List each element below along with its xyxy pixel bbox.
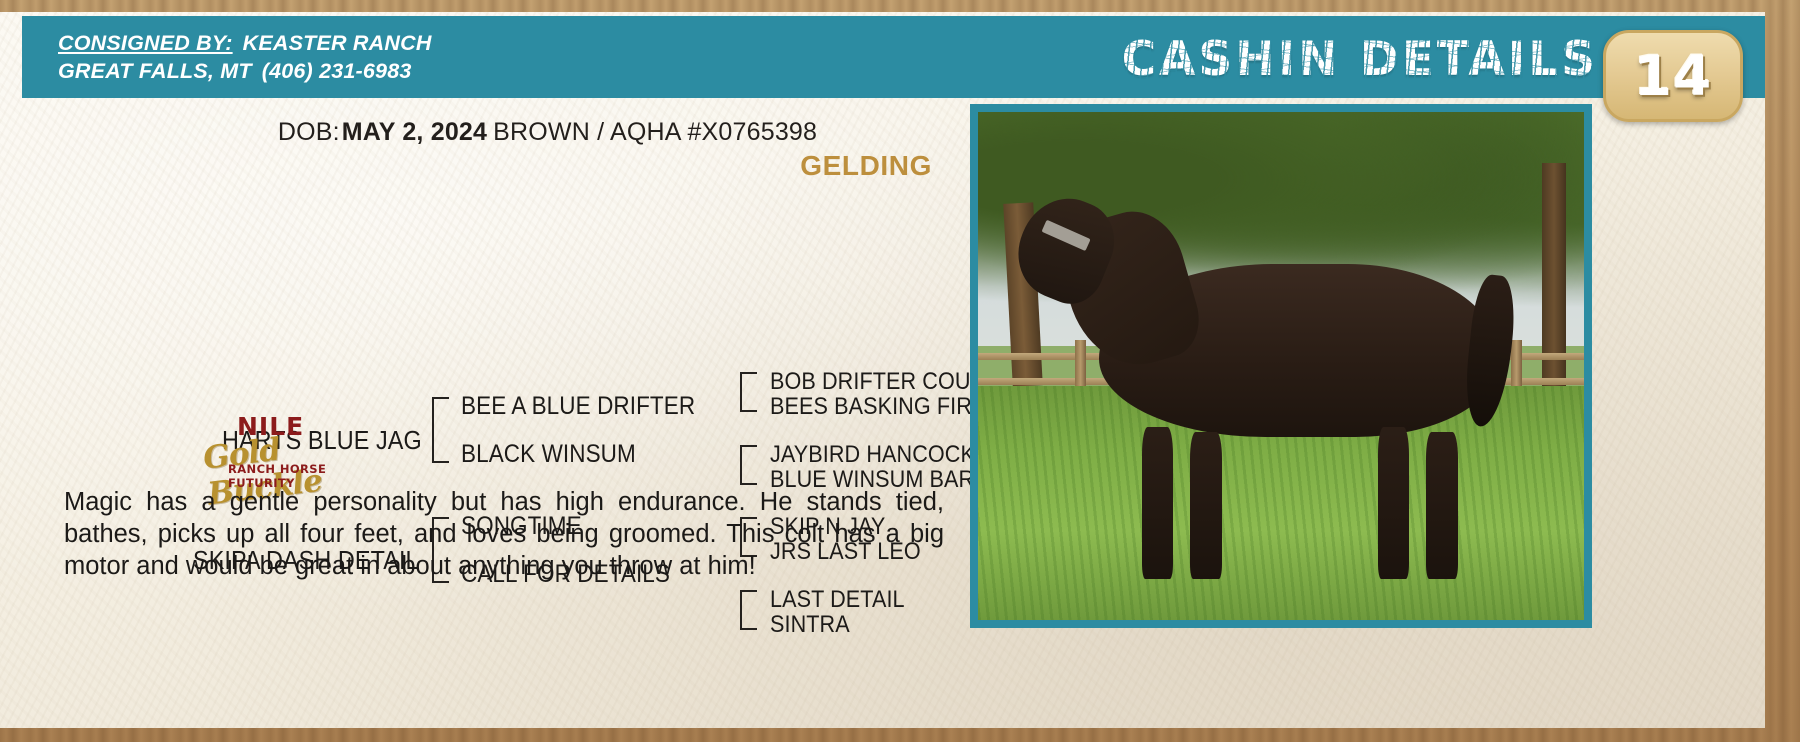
bracket-dam-dam xyxy=(740,590,757,630)
pedigree-dam-dam-sire: LAST DETAIL xyxy=(770,586,905,614)
dob-value: MAY 2, 2024 xyxy=(342,118,487,146)
consignor-city-state: GREAT FALLS, MT xyxy=(58,59,252,83)
horse-leg-hind-near xyxy=(1378,427,1410,579)
pedigree-tree: HARTS BLUE JAG BEE A BLUE DRIFTER BLACK … xyxy=(0,190,1100,470)
pedigree-dam-dam-dam: SINTRA xyxy=(770,611,850,639)
identity-line: DOB:MAY 2, 2024BROWN / AQHA #X0765398 xyxy=(0,118,1095,147)
bracket-sire-sire xyxy=(740,372,757,412)
page-title: CASHIN DETAILS xyxy=(1122,32,1598,87)
horse-leg-front-off xyxy=(1190,432,1222,579)
catalog-page-background: CONSIGNED BY:KEASTER RANCH GREAT FALLS, … xyxy=(0,0,1800,742)
horse-leg-hind-off xyxy=(1426,432,1458,579)
color-and-registration: BROWN / AQHA #X0765398 xyxy=(493,118,817,146)
pedigree-sire-dam-sire: JAYBIRD HANCOCK xyxy=(770,441,975,469)
consignor-line-1: CONSIGNED BY:KEASTER RANCH xyxy=(58,29,432,57)
header-bar: CONSIGNED BY:KEASTER RANCH GREAT FALLS, … xyxy=(22,16,1765,98)
consignor-name: KEASTER RANCH xyxy=(243,31,432,55)
pedigree-sire-sire: BEE A BLUE DRIFTER xyxy=(461,392,695,421)
pedigree-sire-sire-dam: BEES BASKING FIRE xyxy=(770,393,986,421)
lot-number-badge: 14 xyxy=(1603,30,1743,122)
pedigree-sire-dam: BLACK WINSUM xyxy=(461,440,636,469)
consignor-phone: (406) 231-6983 xyxy=(262,59,412,83)
consigned-by-label: CONSIGNED BY: xyxy=(58,31,233,55)
nile-gold-buckle-futurity-logo: NILE Gold Buckle RANCH HORSE FUTURITY xyxy=(205,412,380,484)
lot-number: 14 xyxy=(1634,44,1713,108)
bracket-sire-dam xyxy=(740,445,757,485)
bracket-sire xyxy=(432,397,449,463)
consignor-line-2: GREAT FALLS, MT(406) 231-6983 xyxy=(58,57,432,85)
sex-label: GELDING xyxy=(0,150,1095,182)
horse-photo xyxy=(978,112,1584,620)
dob-label: DOB: xyxy=(278,118,340,146)
consignor-block: CONSIGNED BY:KEASTER RANCH GREAT FALLS, … xyxy=(58,29,432,86)
horse-description: Magic has a gentle personality but has h… xyxy=(64,486,944,582)
horse-photo-frame xyxy=(970,104,1592,628)
horse-leg-front-near xyxy=(1142,427,1174,579)
